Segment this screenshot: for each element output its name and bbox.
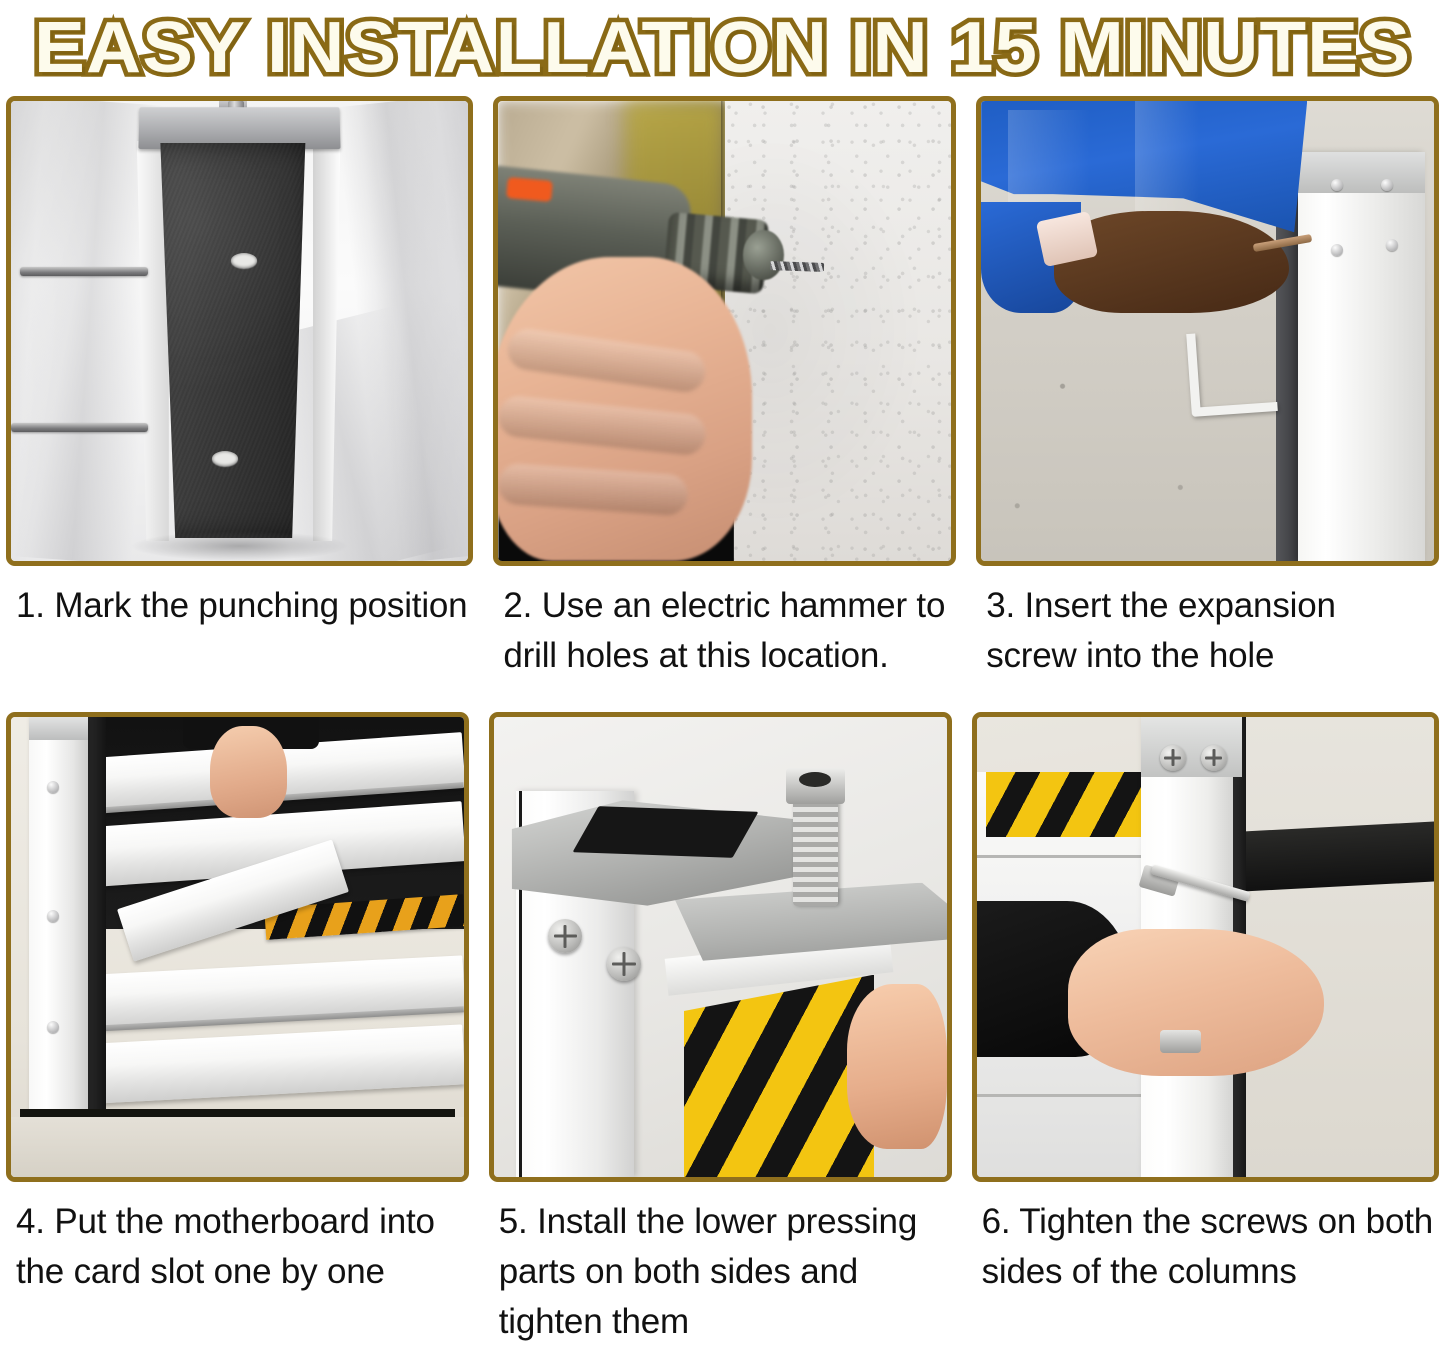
photo-install-pressing-parts: [494, 717, 947, 1177]
lower-column-bolt: [1160, 1030, 1201, 1053]
title-banner: EASY INSTALLATION IN 15 MINUTES: [0, 0, 1445, 96]
caption-line: tighten them: [499, 1297, 946, 1347]
caption-line: the card slot one by one: [16, 1247, 463, 1297]
step-3-photo-frame: [976, 96, 1439, 566]
photo-insert-expansion-screw: [981, 101, 1434, 561]
caption-line: parts on both sides and: [499, 1247, 946, 1297]
dark-column-body: [151, 143, 316, 538]
side-stud-upper: [20, 267, 148, 276]
hex-allen-key: [1187, 328, 1279, 416]
caption-line: 6. Tighten the screws on both: [982, 1197, 1433, 1247]
page-title: EASY INSTALLATION IN 15 MINUTES: [34, 12, 1411, 84]
bracket-slot: [573, 806, 759, 858]
step-6-caption: 6. Tighten the screws on both sides of t…: [972, 1182, 1439, 1301]
caption-line: 4. Put the motherboard into: [16, 1197, 463, 1247]
step-2-caption: 2. Use an electric hammer to drill holes…: [493, 566, 956, 685]
panel-seam: [977, 855, 1146, 858]
phillips-screw: [1160, 745, 1186, 771]
hazard-stripe: [986, 772, 1142, 836]
column-top-plate: [1298, 152, 1425, 193]
step-3: 3. Insert the expansion screw into the h…: [976, 96, 1439, 685]
photo-mark-punching-position: [11, 101, 468, 561]
step-1: 1. Mark the punching position: [6, 96, 473, 685]
caption-line: 1. Mark the punching position: [16, 581, 467, 631]
caption-line: sides of the columns: [982, 1247, 1433, 1297]
phillips-screw: [1201, 745, 1227, 771]
floor-seal-line: [20, 1109, 455, 1117]
step-5-caption: 5. Install the lower pressing parts on b…: [489, 1182, 952, 1351]
drill-chuck-nose: [743, 230, 784, 281]
steps-row-1: 1. Mark the punching position: [0, 96, 1445, 685]
step-1-photo-frame: [6, 96, 473, 566]
step-6-photo-frame: [972, 712, 1439, 1182]
photo-drill-holes: [498, 101, 951, 561]
photo-tighten-column-screws: [977, 717, 1434, 1177]
column-card-slot: [88, 717, 106, 1122]
step-5-photo-frame: [489, 712, 952, 1182]
step-3-caption: 3. Insert the expansion screw into the h…: [976, 566, 1439, 685]
hand-turning-wrench: [1068, 929, 1324, 1076]
step-2-photo-frame: [493, 96, 956, 566]
column-post: [29, 717, 88, 1122]
column-top-cap: [139, 107, 341, 149]
caption-line: 5. Install the lower pressing: [499, 1197, 946, 1247]
caption-line: 2. Use an electric hammer to: [503, 581, 950, 631]
thumb-holding-part: [847, 984, 947, 1150]
step-1-caption: 1. Mark the punching position: [6, 566, 473, 635]
panel-seam: [977, 1094, 1146, 1097]
step-4-photo-frame: [6, 712, 469, 1182]
white-column: [1298, 152, 1425, 561]
hand-placing-board: [210, 726, 287, 818]
photo-insert-boards-into-slot: [11, 717, 464, 1177]
masonry-drill-bit: [770, 261, 825, 272]
steps-row-2: 4. Put the motherboard into the card slo…: [0, 712, 1445, 1351]
white-textured-wall: [725, 101, 951, 561]
caption-line: drill holes at this location.: [503, 631, 950, 681]
caption-line: 3. Insert the expansion: [986, 581, 1433, 631]
phillips-screw: [607, 947, 641, 981]
step-6: 6. Tighten the screws on both sides of t…: [972, 712, 1439, 1351]
caption-line: screw into the hole: [986, 631, 1433, 681]
mounting-hole-upper: [231, 253, 257, 268]
step-4: 4. Put the motherboard into the card slo…: [6, 712, 469, 1351]
column-cap: [29, 717, 88, 740]
step-5: 5. Install the lower pressing parts on b…: [489, 712, 952, 1351]
column-screw: [47, 1021, 59, 1033]
step-4-caption: 4. Put the motherboard into the card slo…: [6, 1182, 469, 1301]
column-screw: [1331, 244, 1343, 256]
mounting-hole-lower: [212, 451, 238, 466]
column-top-bracket: [1141, 717, 1242, 777]
step-2: 2. Use an electric hammer to drill holes…: [493, 96, 956, 685]
side-stud-lower: [11, 423, 148, 432]
column-screw: [1386, 239, 1398, 251]
row-spacer: [0, 685, 1445, 712]
black-baseboard: [1224, 822, 1434, 893]
floor: [11, 1117, 464, 1177]
drill-trigger: [507, 177, 554, 202]
column-ground-shadow: [130, 531, 350, 561]
